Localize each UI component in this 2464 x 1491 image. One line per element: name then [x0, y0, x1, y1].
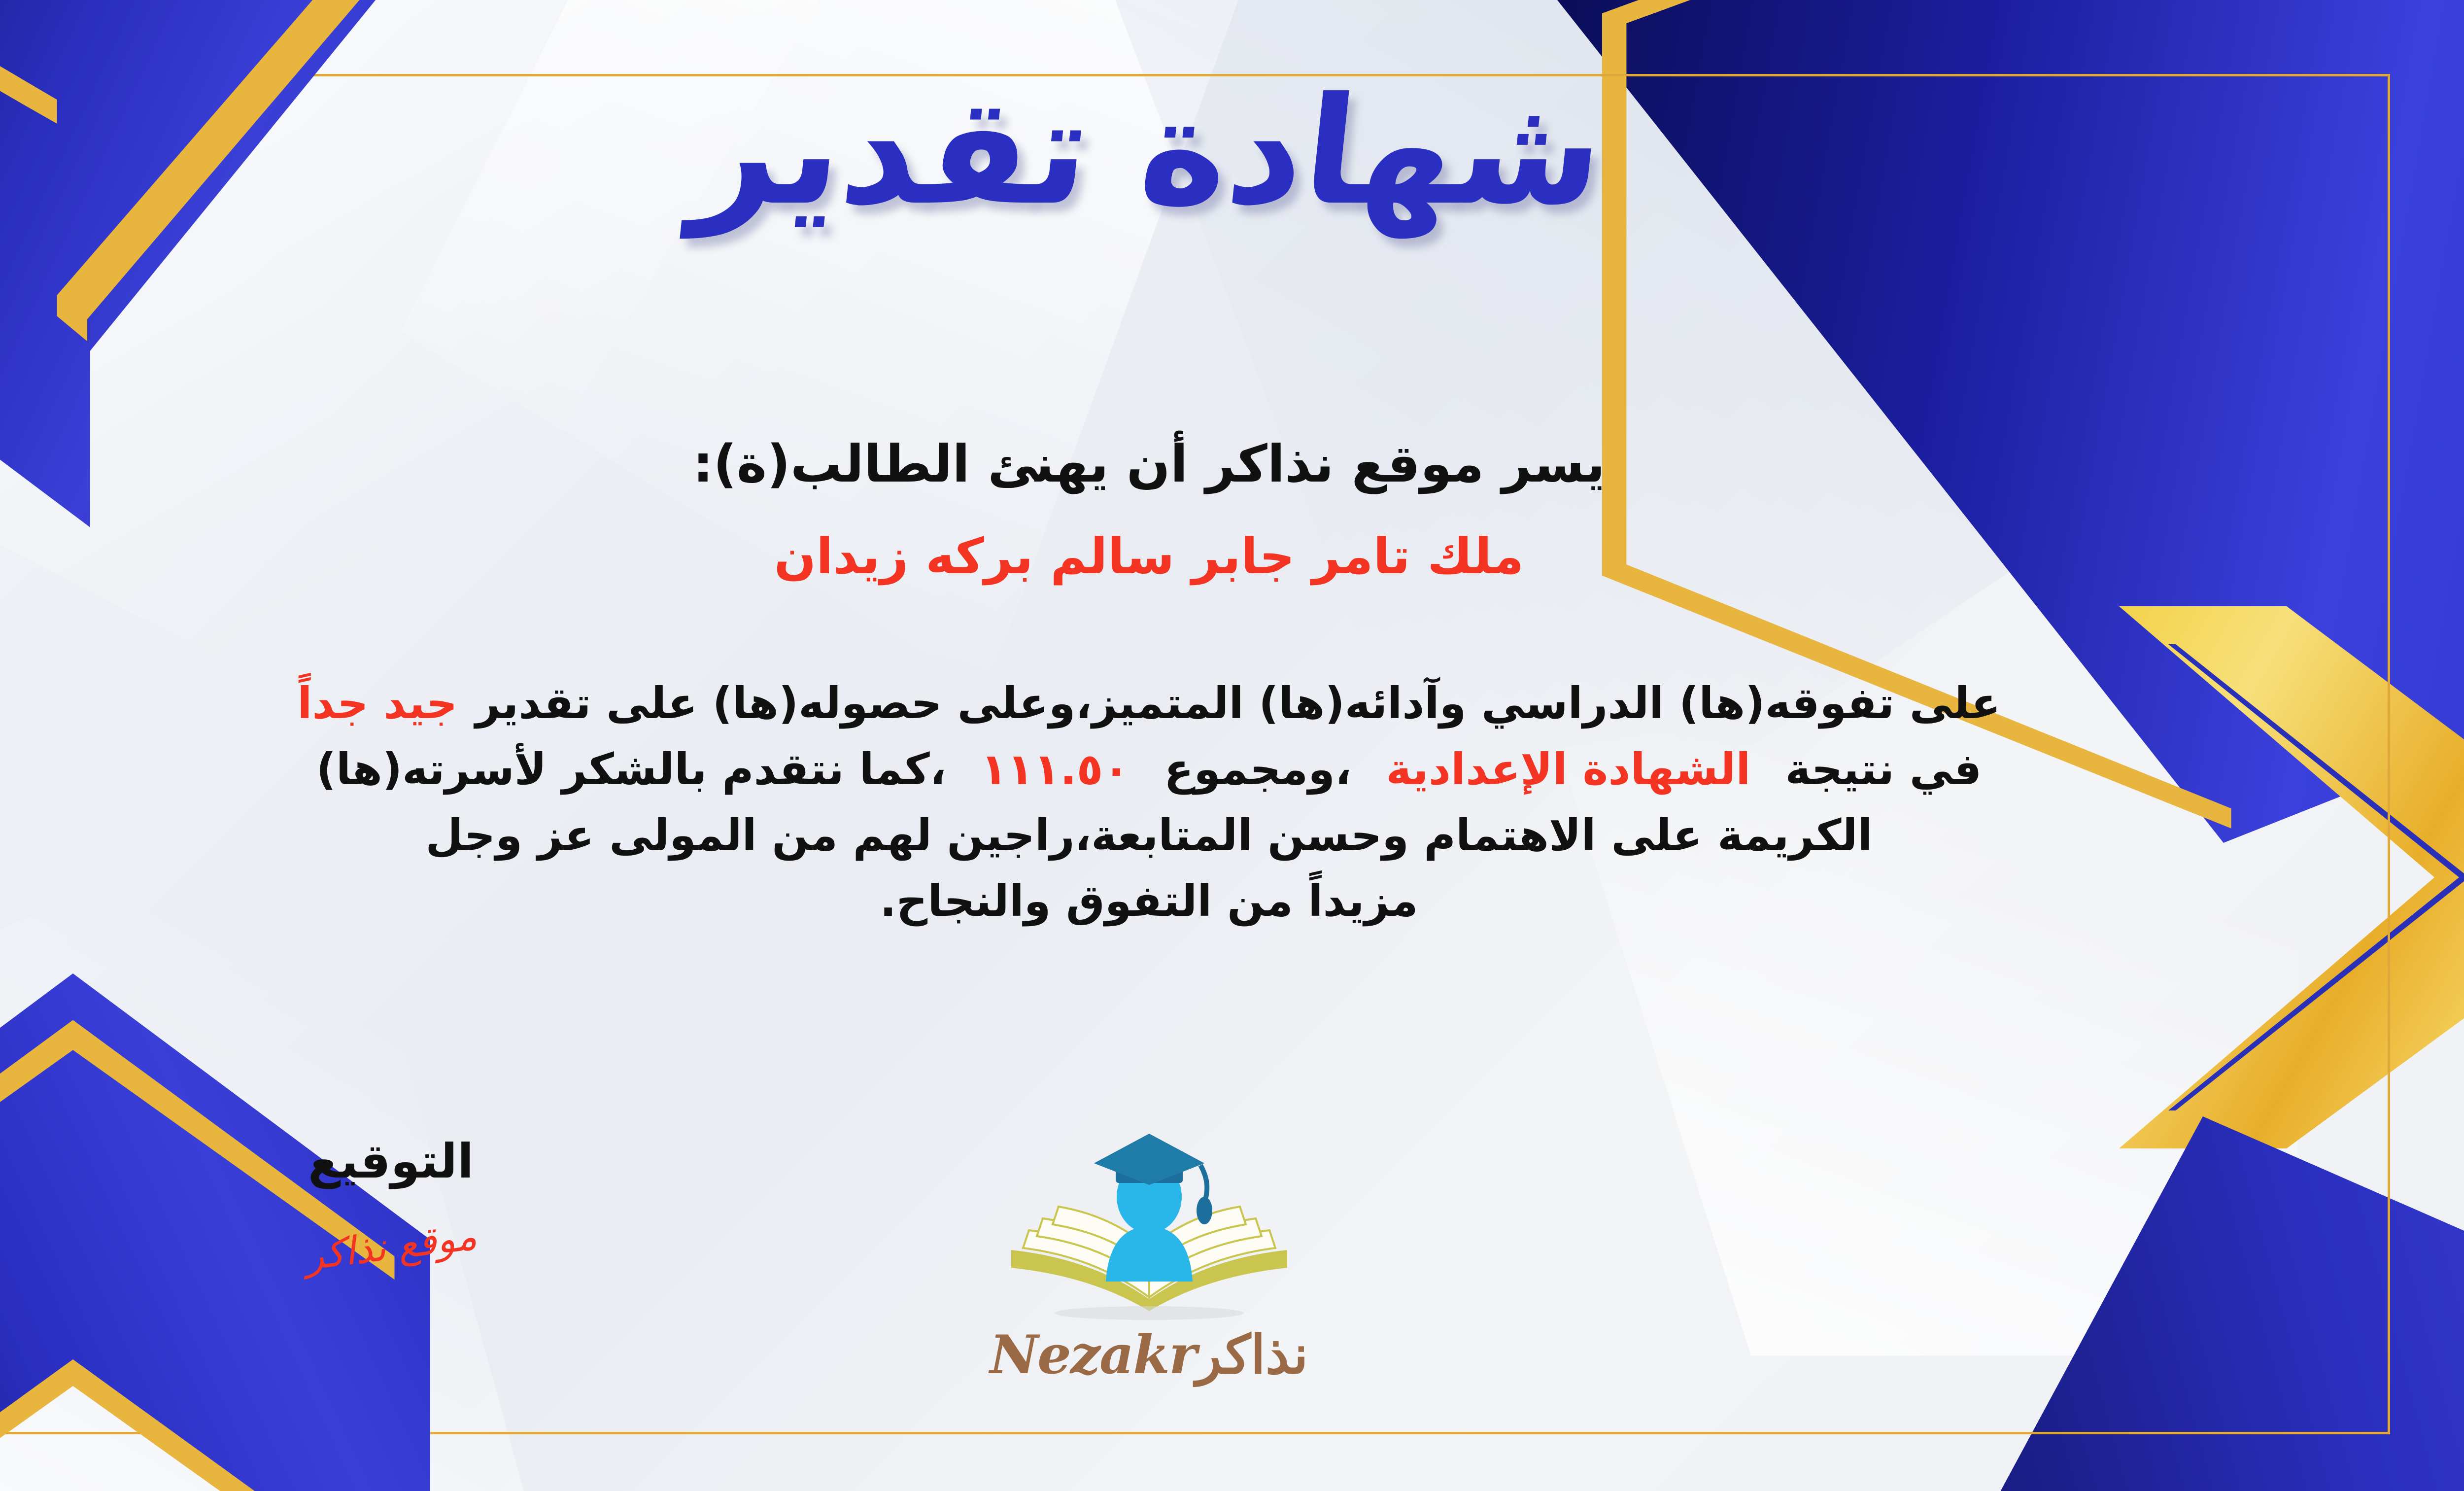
body-text-achievement: على تفوقه(ها) الدراسي وآدائه(ها) المتميز…: [475, 678, 2000, 728]
body-line-family: الكريمة على الاهتمام وحسن المتابعة،راجين…: [0, 802, 2326, 868]
total-score-value: ١١١.٥٠: [981, 744, 1129, 795]
site-logo-text: نذاكرNezakr: [990, 1324, 1308, 1386]
logo-text-arabic: نذاكر: [1196, 1324, 1308, 1386]
certificate-title: شهادة تقدير: [0, 59, 2464, 244]
graduate-book-logo-icon: [972, 1124, 1327, 1321]
certificate-canvas: شهادة تقدير يسر موقع نذاكر أن يهنئ الطال…: [0, 0, 2464, 1491]
body-line-achievement: على تفوقه(ها) الدراسي وآدائه(ها) المتميز…: [0, 670, 2326, 736]
certificate-type-value: الشهادة الإعدادية: [1386, 744, 1750, 795]
logo-text-latin: Nezakr: [990, 1324, 1196, 1386]
grade-value: جيد جداً: [297, 678, 457, 728]
body-text-result-prefix: في نتيجة: [1785, 744, 1982, 795]
site-logo-block: نذاكرNezakr: [0, 1124, 2464, 1386]
body-text-thanks: ،كما نتقدم بالشكر لأسرته(ها): [316, 744, 947, 795]
body-line-result: في نتيجةالشهادة الإعدادية،ومجموع١١١.٥٠،ك…: [0, 736, 2326, 802]
certificate-body: على تفوقه(ها) الدراسي وآدائه(ها) المتميز…: [0, 670, 2326, 934]
student-name: ملك تامر جابر سالم بركه زيدان: [0, 527, 2464, 585]
congratulation-line: يسر موقع نذاكر أن يهنئ الطالب(ة):: [0, 434, 2464, 494]
body-text-total-label: ،ومجموع: [1164, 744, 1351, 795]
certificate-content: شهادة تقدير يسر موقع نذاكر أن يهنئ الطال…: [0, 0, 2464, 1491]
body-line-wish: مزيداً من التفوق والنجاح.: [0, 868, 2326, 934]
